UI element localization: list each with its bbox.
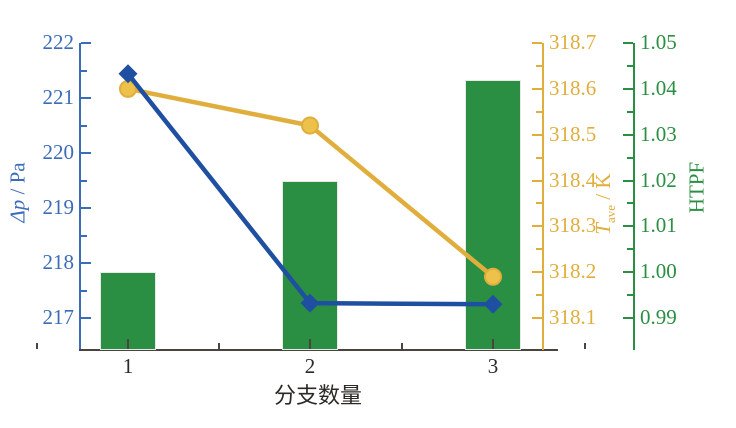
- orange-tick-label-318.6: 318.6: [549, 78, 596, 99]
- right-orange-axis-spine: [542, 43, 544, 350]
- x-tick-3: [492, 339, 494, 349]
- right-green-axis-spine: [633, 43, 635, 350]
- green-tick-1.04: [623, 88, 633, 90]
- left-minor-tick-219.5: [81, 180, 87, 182]
- x-tick-label-2: 2: [290, 356, 330, 377]
- green-tick-label-0.99: 0.99: [640, 307, 677, 328]
- marker-circle-1: [120, 81, 136, 97]
- x-minor-tick-3: [584, 343, 586, 349]
- marker-circle-2: [302, 118, 318, 134]
- left-axis-symbol: Δp: [6, 200, 30, 223]
- orange-tick-label-318.7: 318.7: [549, 32, 596, 53]
- green-tick-1.03: [623, 134, 633, 136]
- green-tick-label-1.02: 1.02: [640, 170, 677, 191]
- green-tick-1.02: [623, 180, 633, 182]
- x-tick-1: [127, 339, 129, 349]
- green-minor-tick-11: [627, 65, 633, 67]
- orange-minor-tick-11: [536, 65, 542, 67]
- chart-figure: 222221220219218217318.7318.6318.5318.431…: [0, 0, 736, 428]
- left-minor-tick-221.5: [81, 70, 87, 72]
- left-axis-unit: Pa: [6, 162, 30, 183]
- green-minor-tick-1: [627, 294, 633, 296]
- orange-minor-tick-3: [536, 248, 542, 250]
- orange-tick-label-318.1: 318.1: [549, 307, 596, 328]
- orange-tick-318.6: [532, 88, 542, 90]
- green-minor-tick-7: [627, 157, 633, 159]
- orange-tick-label-318.5: 318.5: [549, 124, 596, 145]
- green-minor-tick-3: [627, 248, 633, 250]
- orange-axis-unit-sep: /: [591, 189, 615, 200]
- orange-axis-subscript: ave: [603, 205, 618, 223]
- left-tick-218: [81, 262, 91, 264]
- green-tick-1: [623, 271, 633, 273]
- orange-tick-label-318.2: 318.2: [549, 261, 596, 282]
- orange-tick-318.1: [532, 317, 542, 319]
- bar-htpf-2: [282, 181, 338, 351]
- left-tick-label-217: 217: [8, 307, 74, 328]
- orange-minor-tick-9: [536, 111, 542, 113]
- left-tick-label-222: 222: [8, 32, 74, 53]
- left-tick-label-221: 221: [8, 87, 74, 108]
- x-minor-tick-2: [401, 343, 403, 349]
- left-minor-tick-218.5: [81, 235, 87, 237]
- left-tick-222: [81, 42, 91, 44]
- left-minor-tick-220.5: [81, 125, 87, 127]
- left-minor-tick-217.5: [81, 290, 87, 292]
- green-tick-1.01: [623, 225, 633, 227]
- x-tick-label-1: 1: [108, 356, 148, 377]
- left-tick-220: [81, 152, 91, 154]
- orange-tick-label-318.4: 318.4: [549, 170, 596, 191]
- right-orange-axis-title: Tave / K: [591, 144, 619, 264]
- green-tick-0.99: [623, 317, 633, 319]
- x-axis-title: 分支数量: [248, 378, 388, 410]
- green-tick-label-1: 1.00: [640, 261, 677, 282]
- left-axis-spine: [79, 43, 81, 350]
- x-minor-tick-1: [218, 343, 220, 349]
- left-tick-219: [81, 207, 91, 209]
- green-tick-label-1.04: 1.04: [640, 78, 677, 99]
- green-tick-label-1.03: 1.03: [640, 124, 677, 145]
- orange-minor-tick-5: [536, 202, 542, 204]
- orange-tick-318.7: [532, 42, 542, 44]
- left-tick-221: [81, 97, 91, 99]
- left-axis-title: Δp / Pa: [6, 133, 31, 253]
- orange-axis-unit: K: [591, 173, 615, 188]
- left-tick-217: [81, 317, 91, 319]
- green-tick-label-1.01: 1.01: [640, 215, 677, 236]
- orange-minor-tick-7: [536, 157, 542, 159]
- green-minor-tick-5: [627, 202, 633, 204]
- left-tick-label-218: 218: [8, 252, 74, 273]
- right-green-axis-title: HTPF: [685, 128, 710, 248]
- orange-axis-symbol: T: [591, 223, 615, 235]
- orange-tick-318.4: [532, 180, 542, 182]
- green-tick-1.05: [623, 42, 633, 44]
- x-tick-label-3: 3: [473, 356, 513, 377]
- left-axis-unit-sep: /: [6, 183, 30, 194]
- orange-minor-tick-1: [536, 294, 542, 296]
- green-minor-tick-9: [627, 111, 633, 113]
- x-tick-2: [309, 339, 311, 349]
- green-tick-label-1.05: 1.05: [640, 32, 677, 53]
- bar-htpf-3: [465, 80, 521, 350]
- marker-diamond-1: [119, 64, 138, 83]
- x-minor-tick-0: [36, 343, 38, 349]
- orange-tick-318.5: [532, 134, 542, 136]
- orange-tick-318.3: [532, 225, 542, 227]
- orange-tick-318.2: [532, 271, 542, 273]
- orange-tick-label-318.3: 318.3: [549, 215, 596, 236]
